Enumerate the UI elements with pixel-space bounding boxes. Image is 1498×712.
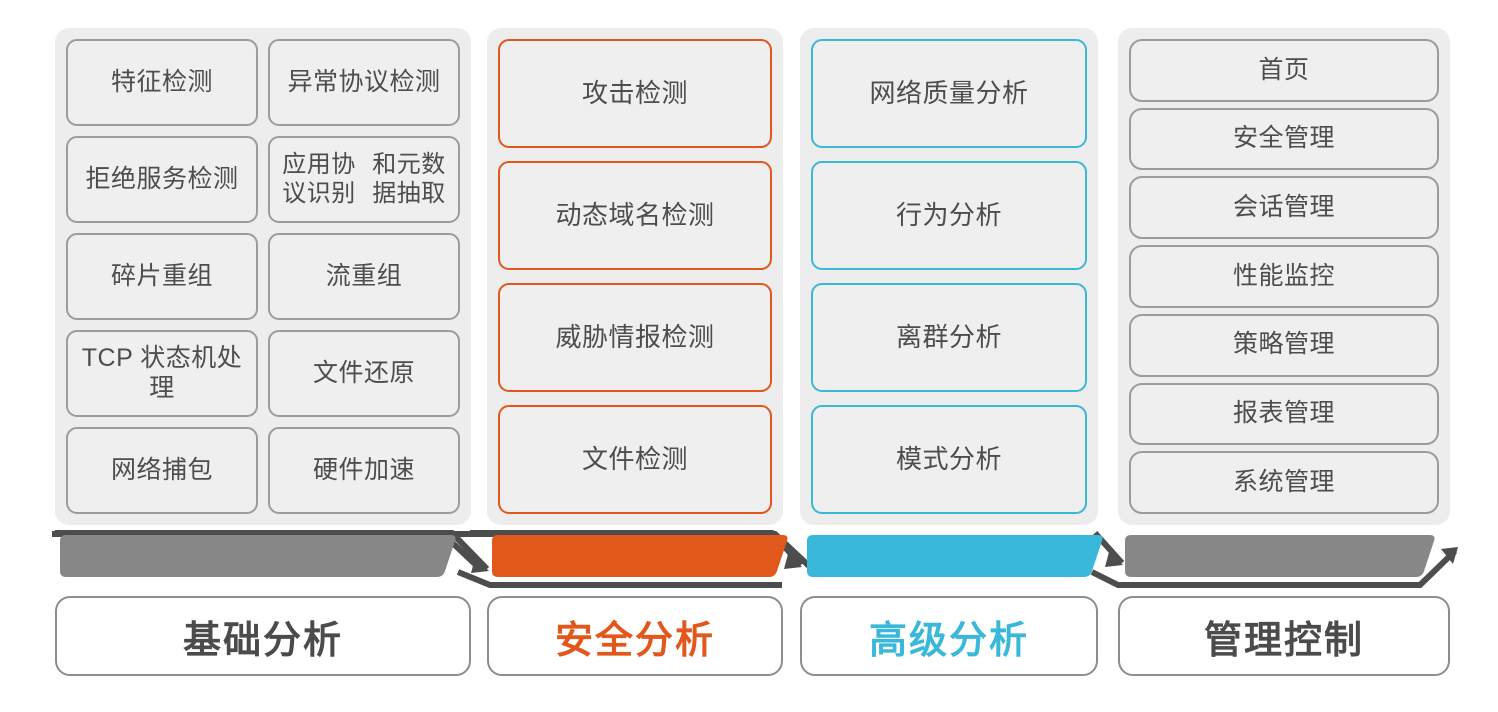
panel-management-stack: 首页 安全管理 会话管理 性能监控 策略管理 报表管理 系统管理 [1129, 39, 1439, 514]
card-performance-monitor[interactable]: 性能监控 [1129, 245, 1439, 308]
panel-advanced-stack: 网络质量分析 行为分析 离群分析 模式分析 [811, 39, 1087, 514]
diagram-canvas: 特征检测 异常协议检测 拒绝服务检测 应用协议识别和元数据抽取 碎片重组 流重组… [0, 0, 1498, 712]
stage-label-basic-analysis[interactable]: 基础分析 [55, 596, 471, 676]
card-fragment-reassembly[interactable]: 碎片重组 [66, 233, 258, 320]
flow-bar-security[interactable] [492, 535, 788, 577]
card-feature-detection[interactable]: 特征检测 [66, 39, 258, 126]
flow-bar-advanced[interactable] [807, 535, 1103, 577]
card-flow-reassembly[interactable]: 流重组 [268, 233, 460, 320]
card-threat-intel-detection[interactable]: 威胁情报检测 [498, 283, 772, 392]
card-dynamic-domain-detection[interactable]: 动态域名检测 [498, 161, 772, 270]
panel-security-stack: 攻击检测 动态域名检测 威胁情报检测 文件检测 [498, 39, 772, 514]
panel-advanced-analysis: 网络质量分析 行为分析 离群分析 模式分析 [800, 28, 1098, 525]
stage-label-management-control[interactable]: 管理控制 [1118, 596, 1450, 676]
card-pattern-analysis[interactable]: 模式分析 [811, 405, 1087, 514]
card-report-management[interactable]: 报表管理 [1129, 383, 1439, 446]
card-session-management[interactable]: 会话管理 [1129, 176, 1439, 239]
card-hardware-acceleration[interactable]: 硬件加速 [268, 427, 460, 514]
stage-label-row: 基础分析 安全分析 高级分析 管理控制 [0, 596, 1498, 678]
process-flow-arrow-band [0, 527, 1498, 589]
panel-basic-analysis: 特征检测 异常协议检测 拒绝服务检测 应用协议识别和元数据抽取 碎片重组 流重组… [55, 28, 471, 525]
card-security-management[interactable]: 安全管理 [1129, 108, 1439, 171]
card-policy-management[interactable]: 策略管理 [1129, 314, 1439, 377]
stage-label-advanced-analysis[interactable]: 高级分析 [800, 596, 1098, 676]
card-network-quality-analysis[interactable]: 网络质量分析 [811, 39, 1087, 148]
capability-panels: 特征检测 异常协议检测 拒绝服务检测 应用协议识别和元数据抽取 碎片重组 流重组… [0, 28, 1498, 528]
card-file-restore[interactable]: 文件还原 [268, 330, 460, 417]
card-app-protocol-identification-line2: 和元数据抽取 [364, 151, 454, 208]
card-home[interactable]: 首页 [1129, 39, 1439, 102]
panel-security-analysis: 攻击检测 动态域名检测 威胁情报检测 文件检测 [487, 28, 783, 525]
card-app-protocol-identification[interactable]: 应用协议识别和元数据抽取 [268, 136, 460, 223]
flow-bar-basic[interactable] [60, 535, 456, 577]
card-attack-detection[interactable]: 攻击检测 [498, 39, 772, 148]
card-behavior-analysis[interactable]: 行为分析 [811, 161, 1087, 270]
card-system-management[interactable]: 系统管理 [1129, 451, 1439, 514]
card-file-detection[interactable]: 文件检测 [498, 405, 772, 514]
card-network-capture[interactable]: 网络捕包 [66, 427, 258, 514]
card-outlier-analysis[interactable]: 离群分析 [811, 283, 1087, 392]
flow-bar-management[interactable] [1125, 535, 1435, 577]
panel-management-control: 首页 安全管理 会话管理 性能监控 策略管理 报表管理 系统管理 [1118, 28, 1450, 525]
card-app-protocol-identification-line1: 应用协议识别 [274, 151, 364, 208]
card-tcp-state-machine[interactable]: TCP 状态机处理 [66, 330, 258, 417]
card-dos-detection[interactable]: 拒绝服务检测 [66, 136, 258, 223]
panel-basic-grid: 特征检测 异常协议检测 拒绝服务检测 应用协议识别和元数据抽取 碎片重组 流重组… [66, 39, 460, 514]
card-abnormal-protocol-detection[interactable]: 异常协议检测 [268, 39, 460, 126]
stage-label-security-analysis[interactable]: 安全分析 [487, 596, 783, 676]
